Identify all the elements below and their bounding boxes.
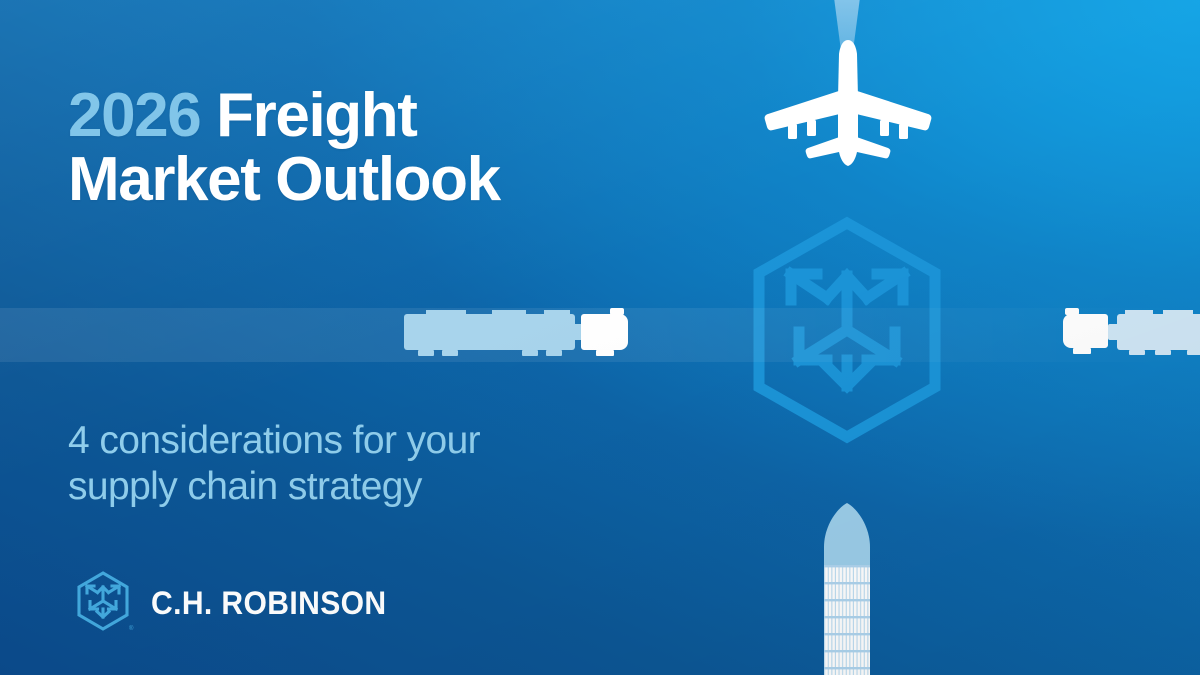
- airplane-top-view-icon: [762, 38, 934, 166]
- hero-subtitle: 4 considerations for your supply chain s…: [68, 418, 708, 510]
- hero-text-block: 2026 Freight Market Outlook: [68, 84, 708, 212]
- registered-trademark-mark: ®: [129, 625, 134, 632]
- semi-truck-left-facing-icon: [1063, 308, 1200, 356]
- subtitle-line1: 4 considerations for your: [68, 419, 480, 462]
- hero-banner: 2026 Freight Market Outlook 4 considerat…: [0, 0, 1200, 675]
- headline-year: 2026: [68, 81, 200, 150]
- skyscraper-icon: [818, 503, 876, 675]
- headline-line1-rest: Freight: [216, 81, 416, 150]
- subtitle-line2: supply chain strategy: [68, 464, 708, 510]
- hexagon-cube-arrows-icon: ®: [72, 570, 134, 636]
- brand-wordmark: C.H. ROBINSON: [151, 585, 387, 622]
- page-title: 2026 Freight Market Outlook: [68, 84, 708, 212]
- semi-truck-right-facing-icon: [404, 306, 630, 358]
- brand-logo: ® C.H. ROBINSON: [72, 570, 402, 636]
- headline-line2: Market Outlook: [68, 148, 708, 212]
